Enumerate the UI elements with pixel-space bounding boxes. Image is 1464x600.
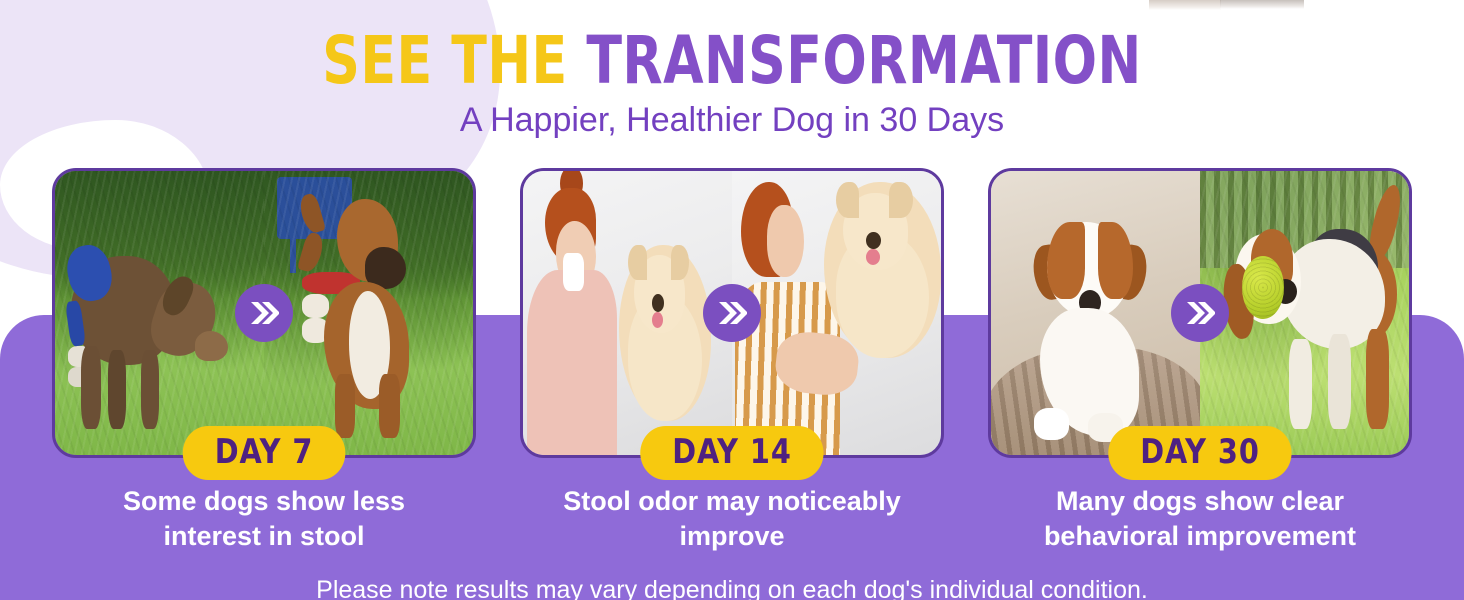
caption-line: Stool odor may noticeably (520, 484, 944, 519)
dog-illustration (1012, 222, 1171, 449)
transformation-card[interactable]: DAY 14 (520, 168, 944, 458)
card-caption: Stool odor may noticeably improve (520, 484, 944, 553)
card-photo-pair (520, 168, 944, 458)
card-photo-pair (52, 168, 476, 458)
pomeranian-illustration (619, 245, 711, 421)
day-badge: DAY 7 (183, 426, 346, 480)
card-caption: Many dogs show clear behavioral improvem… (988, 484, 1412, 553)
card-photo-pair (988, 168, 1412, 458)
after-photo (264, 171, 473, 455)
top-edge-image-sliver-2 (1220, 0, 1304, 9)
double-chevron-right-icon (1171, 284, 1229, 342)
double-chevron-right-icon (235, 284, 293, 342)
after-photo (732, 171, 941, 455)
page-title: SEE THE TRANSFORMATION (88, 28, 1376, 94)
page-title-part-1: SEE THE (322, 22, 567, 99)
caption-line: Some dogs show less (52, 484, 476, 519)
double-chevron-right-icon (703, 284, 761, 342)
before-photo (991, 171, 1200, 455)
caption-line: behavioral improvement (988, 519, 1412, 554)
caption-line: interest in stool (52, 519, 476, 554)
card-caption: Some dogs show less interest in stool (52, 484, 476, 553)
pomeranian-illustration (824, 182, 941, 358)
toy-ball (1242, 256, 1284, 318)
caption-line: improve (520, 519, 944, 554)
day-badge: DAY 30 (1108, 426, 1291, 480)
transformation-card[interactable]: DAY 30 (988, 168, 1412, 458)
dog-illustration (302, 194, 440, 438)
top-edge-image-sliver-1 (1149, 0, 1221, 10)
dog-illustration (1208, 199, 1400, 449)
day-badge: DAY 14 (640, 426, 823, 480)
before-photo (523, 171, 732, 455)
page-subtitle: A Happier, Healthier Dog in 30 Days (0, 100, 1464, 141)
dog-illustration (68, 245, 235, 432)
caption-line: Many dogs show clear (988, 484, 1412, 519)
transformation-card[interactable]: DAY 7 (52, 168, 476, 458)
caption-row: Some dogs show less interest in stool St… (0, 484, 1464, 553)
transformation-banner: SEE THE TRANSFORMATION A Happier, Health… (0, 0, 1464, 600)
page-title-part-2: TRANSFORMATION (586, 22, 1141, 99)
after-photo (1200, 171, 1409, 455)
before-photo (55, 171, 264, 455)
card-row: DAY 7 (0, 168, 1464, 458)
disclaimer-text: Please note results may vary depending o… (0, 575, 1464, 600)
